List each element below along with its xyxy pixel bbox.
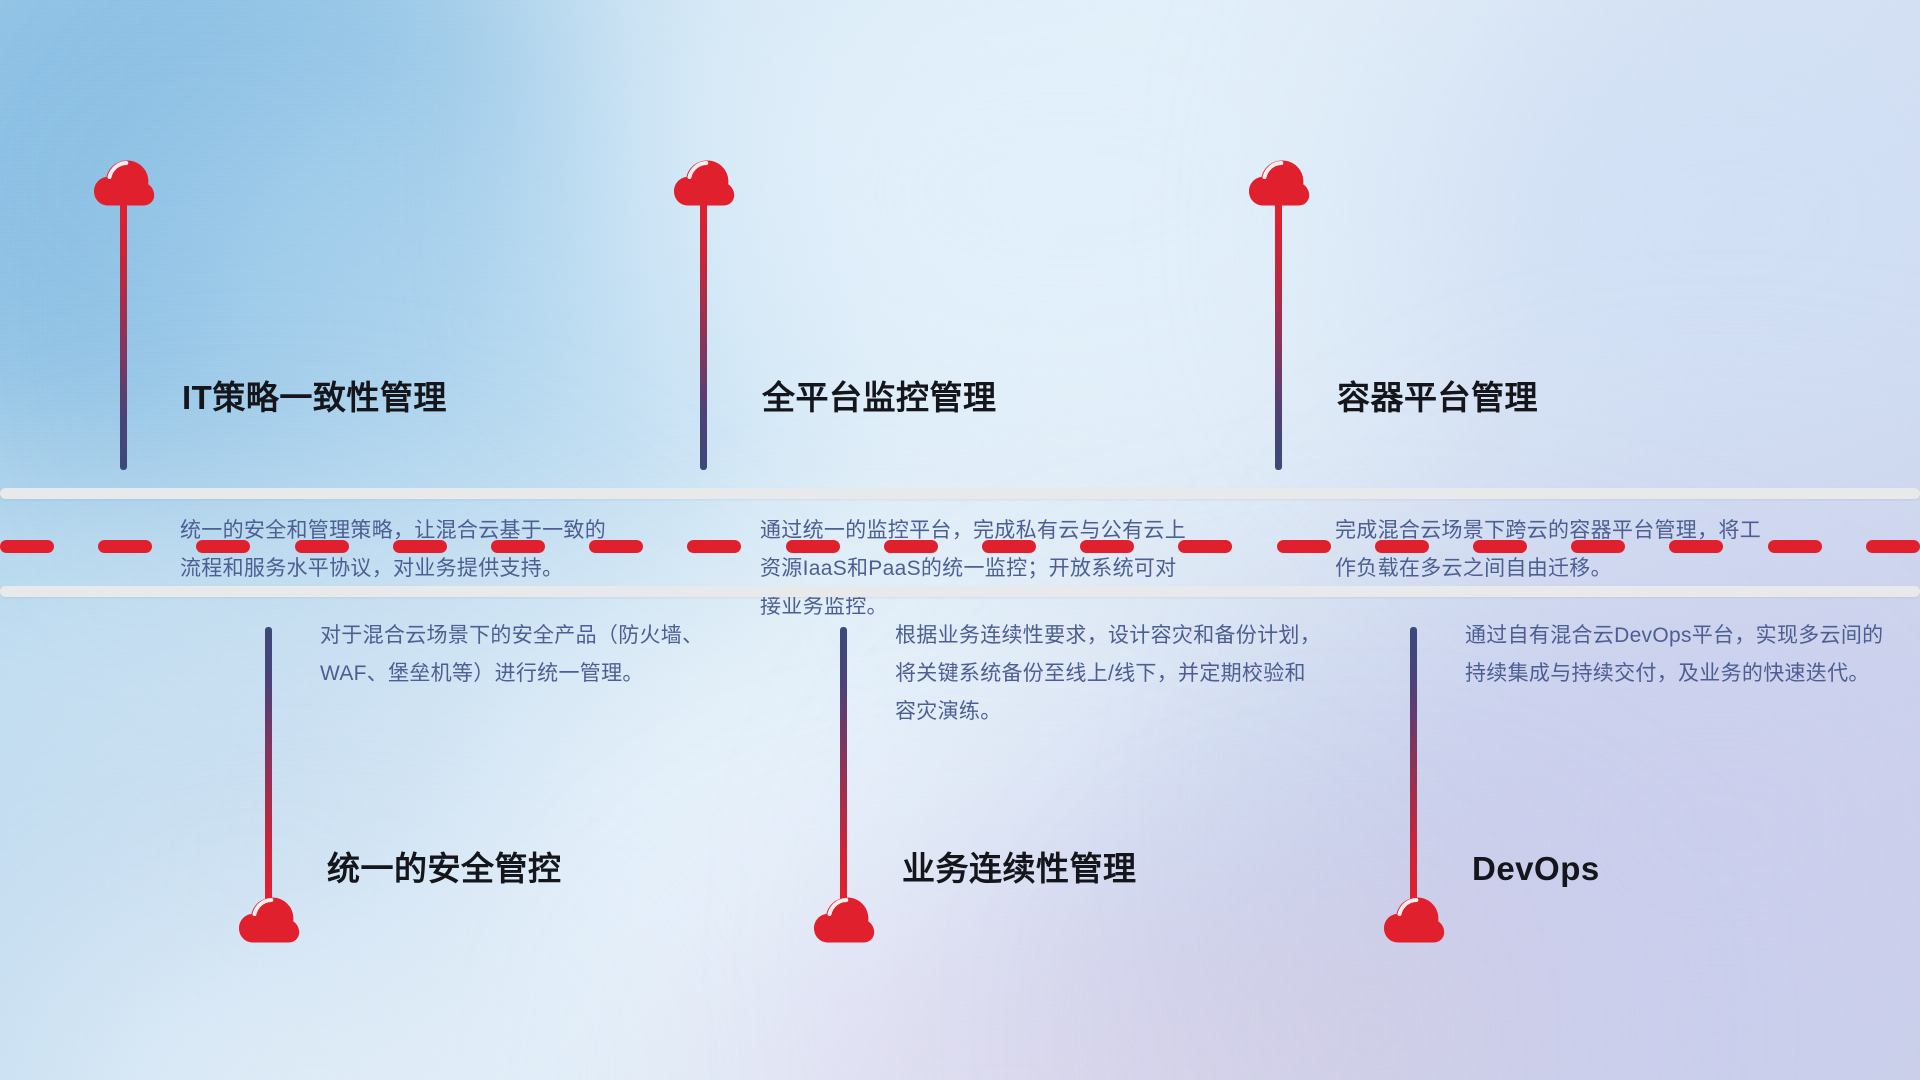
road-edge-bottom — [0, 586, 1920, 597]
road-dash — [491, 540, 545, 553]
road-dash — [589, 540, 643, 553]
road-dash — [196, 540, 250, 553]
cloud-pin-icon — [238, 897, 300, 943]
road-dash — [1277, 540, 1331, 553]
card-title: 容器平台管理 — [1337, 378, 1538, 418]
road-dash — [295, 540, 349, 553]
road-dash — [0, 540, 54, 553]
pin-stem — [1275, 202, 1282, 470]
cloud-pin-icon — [813, 897, 875, 943]
pin-stem — [1410, 627, 1417, 905]
road-dash — [1669, 540, 1723, 553]
background-blob — [980, 700, 1800, 1080]
cloud-pin-icon — [1248, 160, 1310, 206]
card-title: 统一的安全管控 — [327, 849, 562, 889]
road-dash — [1571, 540, 1625, 553]
card-title: 业务连续性管理 — [902, 849, 1137, 889]
pin-stem — [120, 202, 127, 470]
road-dash — [98, 540, 152, 553]
road-center-dashes — [0, 540, 1920, 553]
background-blob — [1380, 0, 1920, 500]
road-dash — [393, 540, 447, 553]
card-description: 根据业务连续性要求，设计容灾和备份计划，将关键系统备份至线上/线下，并定期校验和… — [895, 617, 1325, 731]
road-edge-top — [0, 488, 1920, 499]
background-blob — [0, 0, 580, 500]
road-dash — [884, 540, 938, 553]
cloud-pin-icon — [93, 160, 155, 206]
road-dash — [1866, 540, 1920, 553]
road-dash — [786, 540, 840, 553]
background-blob — [60, 930, 580, 1080]
background-blob — [620, 0, 1520, 500]
road-dash — [1375, 540, 1429, 553]
cloud-pin-icon — [673, 160, 735, 206]
card-title: DevOps — [1472, 849, 1600, 889]
card-description: 对于混合云场景下的安全产品（防火墙、WAF、堡垒机等）进行统一管理。 — [320, 617, 750, 693]
pin-stem — [700, 202, 707, 470]
pin-stem — [265, 627, 272, 905]
infographic-canvas: IT策略一致性管理 统一的安全和管理策略，让混合云基于一致的流程和服务水平协议，… — [0, 0, 1920, 1080]
road-divider — [0, 488, 1920, 608]
road-dash — [982, 540, 1036, 553]
card-title: IT策略一致性管理 — [182, 378, 447, 418]
cloud-pin-icon — [1383, 897, 1445, 943]
card-description: 通过自有混合云DevOps平台，实现多云间的持续集成与持续交付，及业务的快速迭代… — [1465, 617, 1895, 693]
background-blob — [700, 900, 1320, 1080]
road-dash — [1178, 540, 1232, 553]
road-dash — [1473, 540, 1527, 553]
card-title: 全平台监控管理 — [762, 378, 997, 418]
road-dash — [687, 540, 741, 553]
road-dash — [1768, 540, 1822, 553]
road-dash — [1080, 540, 1134, 553]
pin-stem — [840, 627, 847, 905]
background-blob — [1160, 880, 1580, 1080]
